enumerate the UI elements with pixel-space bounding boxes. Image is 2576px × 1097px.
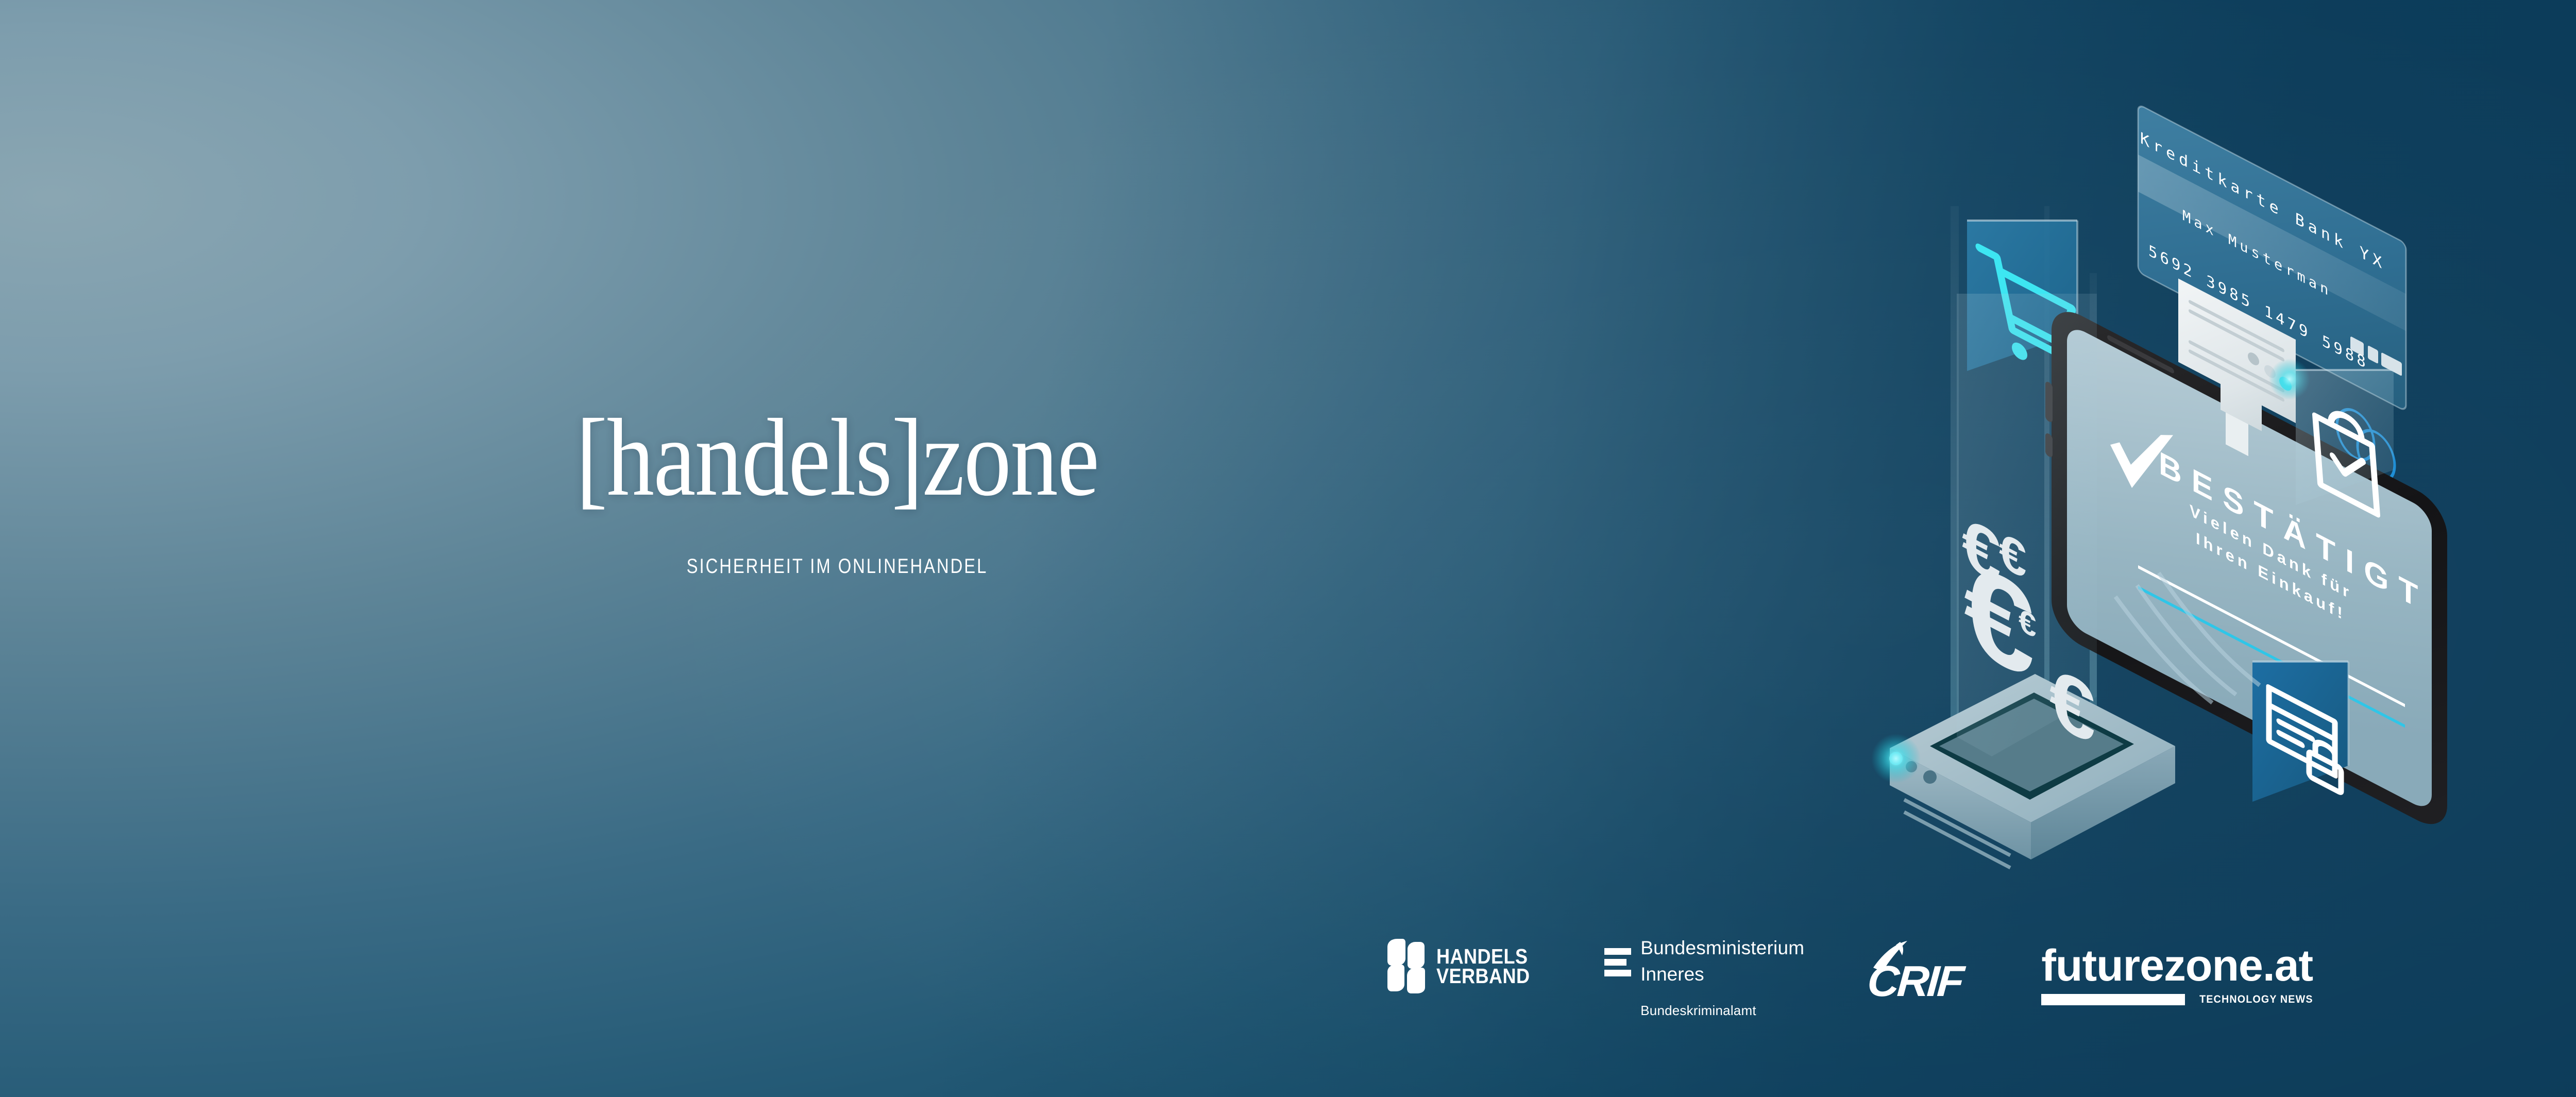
crif-wordmark: CRIF: [1866, 959, 1963, 1003]
partner-logo-bundesministerium[interactable]: Bundesministerium Inneres Bundeskriminal…: [1604, 938, 1804, 1019]
bmi-wordmark: Bundesministerium Inneres Bundeskriminal…: [1640, 938, 1804, 1019]
handelsverband-wordmark: HANDELS VERBAND: [1436, 947, 1530, 986]
illustration-svg: € € € € €: [1829, 52, 2576, 902]
partner-logo-crif[interactable]: CRIF: [1866, 938, 1985, 1004]
handelsverband-line1: HANDELS: [1436, 947, 1530, 966]
futurezone-wordmark: futurezone.at: [2041, 945, 2313, 987]
austria-flag-icon: [1604, 938, 1631, 976]
futurezone-bar: [2041, 994, 2184, 1005]
partner-logo-bar: HANDELS VERBAND Bundesministerium Innere…: [1386, 938, 2313, 1019]
futurezone-rule: TECHNOLOGY NEWS: [2041, 993, 2313, 1006]
futurezone-tagline: TECHNOLOGY NEWS: [2199, 993, 2313, 1006]
bmi-line1: Bundesministerium: [1640, 938, 1804, 958]
partner-logo-futurezone[interactable]: futurezone.at TECHNOLOGY NEWS: [2041, 938, 2313, 1006]
bmi-line3: Bundeskriminalamt: [1640, 1003, 1804, 1019]
hero-text-block: [handels]zone SICHERHEIT IM ONLINEHANDEL: [0, 402, 1674, 578]
partner-logo-handelsverband[interactable]: HANDELS VERBAND: [1386, 938, 1543, 994]
page-subtitle: SICHERHEIT IM ONLINEHANDEL: [151, 555, 1524, 578]
bmi-line2: Inneres: [1640, 964, 1804, 984]
handelsverband-line2: VERBAND: [1436, 966, 1530, 986]
page-title: [handels]zone: [117, 402, 1557, 513]
handelsverband-mark-icon: [1386, 938, 1426, 994]
ecommerce-illustration: € € € € € Kreditkarte Bank YX Max Muster…: [1829, 52, 2576, 902]
secure-doc-panel: [2252, 662, 2348, 802]
hero-banner: [handels]zone SICHERHEIT IM ONLINEHANDEL: [0, 0, 2576, 1097]
